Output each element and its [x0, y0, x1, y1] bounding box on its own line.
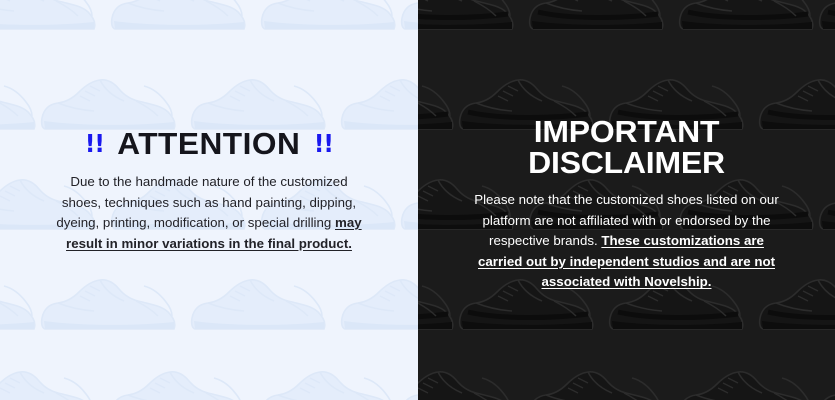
attention-panel: !! ATTENTION !! Due to the handmade natu… — [0, 0, 418, 400]
double-exclamation-right-icon: !! — [314, 131, 333, 156]
disclaimer-panel: IMPORTANT DISCLAIMER Please note that th… — [418, 0, 835, 400]
attention-headline: ATTENTION — [117, 128, 300, 159]
disclaimer-banner: !! ATTENTION !! Due to the handmade natu… — [0, 0, 835, 400]
attention-body-normal: Due to the handmade nature of the custom… — [56, 174, 356, 230]
attention-heading-row: !! ATTENTION !! — [0, 128, 418, 159]
disclaimer-content: IMPORTANT DISCLAIMER Please note that th… — [418, 0, 835, 293]
attention-body: Due to the handmade nature of the custom… — [54, 172, 364, 254]
double-exclamation-left-icon: !! — [85, 131, 104, 156]
disclaimer-headline-line1: IMPORTANT — [418, 116, 835, 147]
attention-content: !! ATTENTION !! Due to the handmade natu… — [0, 0, 418, 254]
disclaimer-body: Please note that the customized shoes li… — [467, 190, 787, 293]
disclaimer-headline: IMPORTANT DISCLAIMER — [418, 116, 835, 178]
disclaimer-headline-line2: DISCLAIMER — [418, 147, 835, 178]
